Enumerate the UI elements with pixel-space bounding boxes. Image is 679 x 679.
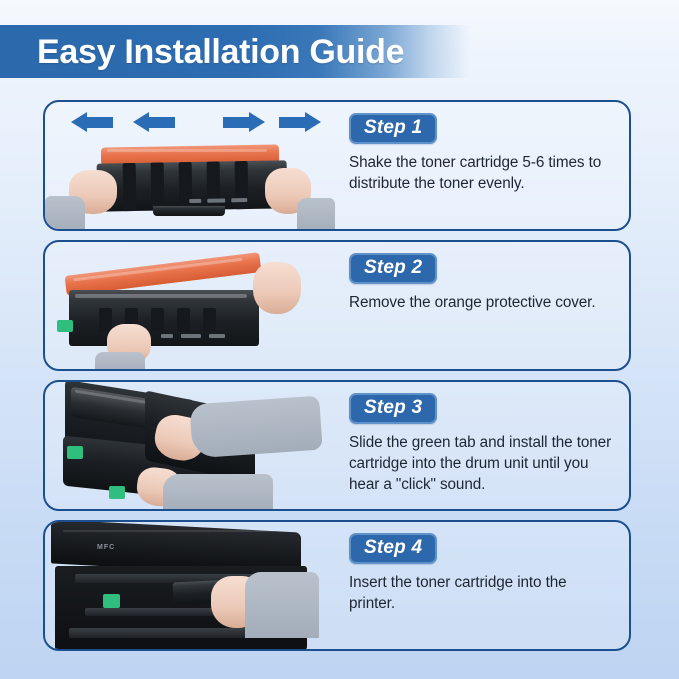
green-tab [67,446,83,459]
step-1-figure [45,102,335,229]
sleeve-right [245,572,319,638]
step-card-4: MFC Step 4 Insert the toner cartridge [43,520,631,651]
step-text-3: Slide the green tab and install the tone… [349,433,615,496]
step-3-figure [45,382,335,509]
sleeve-lower [163,474,273,509]
installation-guide-page: Easy Installation Guide [0,0,679,679]
printer-insert-cartridge-illustration: MFC [45,522,335,649]
step-text-2: Remove the orange protective cover. [349,293,615,314]
green-tab [103,594,120,608]
arrow-right-icon [279,112,321,133]
step-2-figure [45,242,335,369]
step-2-body: Step 2 Remove the orange protective cove… [335,242,629,369]
printer-brand-logo: MFC [97,544,115,551]
step-card-2: Step 2 Remove the orange protective cove… [43,240,631,371]
printer-tray-edge [69,628,249,638]
step-text-4: Insert the toner cartridge into the prin… [349,573,615,615]
arrow-right-icon [223,112,265,133]
cartridge-foot [153,206,225,216]
step-4-figure: MFC [45,522,335,649]
toner-cartridge-body [97,160,288,211]
step-3-body: Step 3 Slide the green tab and install t… [335,382,629,509]
page-title: Easy Installation Guide [0,35,404,69]
toner-cartridge-shake-illustration [45,102,335,229]
arrow-left-icon [71,112,113,133]
cover-highlight [107,149,267,152]
toner-cartridge-body [69,290,259,346]
step-1-body: Step 1 Shake the toner cartridge 5-6 tim… [335,102,629,229]
steps-list: Step 1 Shake the toner cartridge 5-6 tim… [43,100,631,660]
drum-unit-install-illustration [45,382,335,509]
sleeve-right [297,198,335,229]
shake-arrows [71,112,321,134]
step-card-1: Step 1 Shake the toner cartridge 5-6 tim… [43,100,631,231]
step-badge-2: Step 2 [349,253,437,284]
step-badge-3: Step 3 [349,393,437,424]
step-badge-4: Step 4 [349,533,437,564]
header-banner: Easy Installation Guide [0,25,470,78]
hand-pulling-cover [253,262,301,314]
sleeve-left [45,196,85,229]
sleeve-lower [95,352,145,369]
step-text-1: Shake the toner cartridge 5-6 times to d… [349,153,615,195]
green-tab [57,320,73,332]
step-card-3: Step 3 Slide the green tab and install t… [43,380,631,511]
step-badge-1: Step 1 [349,113,437,144]
toner-cartridge-remove-cover-illustration [45,242,335,369]
sleeve-upper [189,396,322,459]
arrow-left-icon [133,112,175,133]
green-tab [109,486,125,499]
step-4-body: Step 4 Insert the toner cartridge into t… [335,522,629,649]
